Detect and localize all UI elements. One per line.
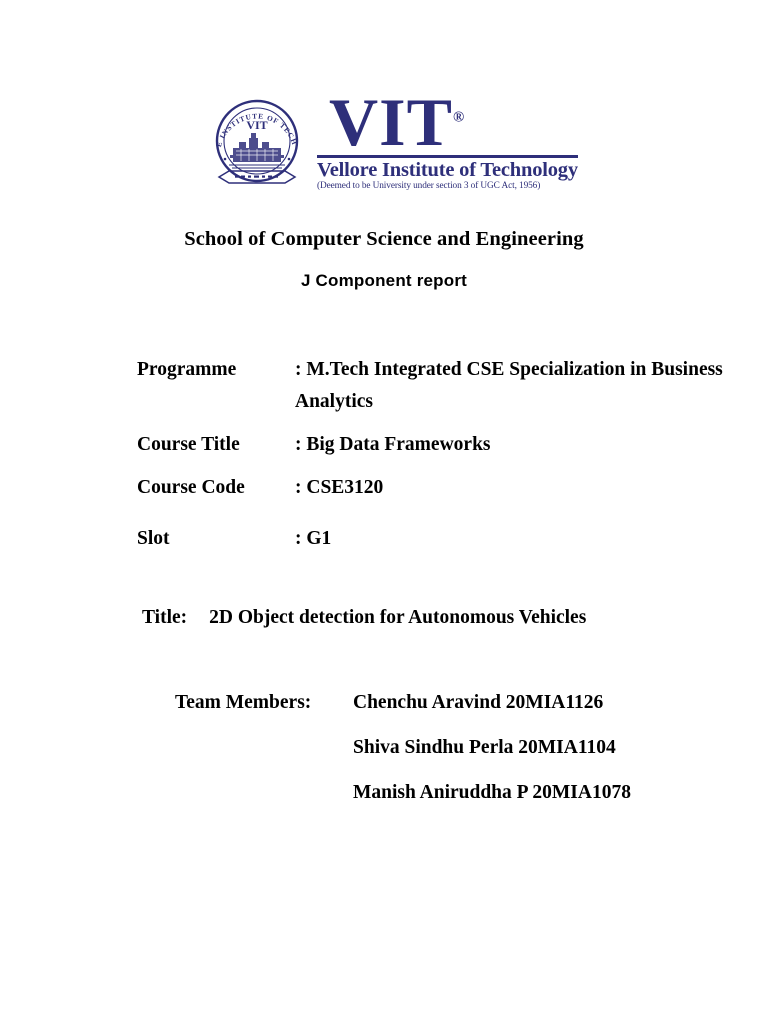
course-title-label: Course Title [137,429,295,461]
university-disclaimer: (Deemed to be University under section 3… [317,181,578,192]
slot-label: Slot [137,523,295,555]
field-row-course-code: Course Code : CSE3120 [137,472,737,504]
team-member-row: Shiva Sindhu Perla 20MIA1104 [175,735,735,761]
programme-label: Programme [137,354,295,386]
team-member-name: Shiva Sindhu Perla 20MIA1104 [353,735,735,761]
team-member-name: Chenchu Aravind 20MIA1126 [353,690,735,716]
slot-value: : G1 [295,523,737,555]
project-title-label: Title: [142,607,187,628]
field-row-course-title: Course Title : Big Data Frameworks [137,429,737,461]
vit-seal-icon: VELLORE INSTITUTE OF TECHNOLOGY VIT [205,93,309,193]
vit-acronym-text: VIT [329,84,453,160]
course-title-value: : Big Data Frameworks [295,429,737,461]
team-member-row: Team Members: Chenchu Aravind 20MIA1126 [175,690,735,716]
programme-value: : M.Tech Integrated CSE Specialization i… [295,354,737,418]
university-full-name: Vellore Institute of Technology [317,159,578,181]
field-row-programme: Programme : M.Tech Integrated CSE Specia… [137,354,737,418]
school-heading: School of Computer Science and Engineeri… [0,228,768,251]
course-code-label: Course Code [137,472,295,504]
svg-text:VIT: VIT [246,118,267,132]
registered-trademark-icon: ® [453,109,464,125]
vit-wordmark: VIT® Vellore Institute of Technology (De… [317,93,578,193]
project-title-value: 2D Object detection for Autonomous Vehic… [209,607,586,628]
report-details: Programme : M.Tech Integrated CSE Specia… [137,354,737,555]
team-member-name: Manish Aniruddha P 20MIA1078 [353,780,735,806]
team-members-label: Team Members: [175,690,353,716]
report-type-heading: J Component report [0,271,768,291]
course-code-value: : CSE3120 [295,472,737,504]
vit-acronym: VIT® [317,91,578,153]
vit-logo: VELLORE INSTITUTE OF TECHNOLOGY VIT [205,92,560,194]
report-cover-page: VELLORE INSTITUTE OF TECHNOLOGY VIT [0,0,768,1024]
team-members-section: Team Members: Chenchu Aravind 20MIA1126 … [175,690,735,806]
team-member-row: Manish Aniruddha P 20MIA1078 [175,780,735,806]
field-row-slot: Slot : G1 [137,523,737,555]
project-title-line: Title:2D Object detection for Autonomous… [142,604,586,632]
